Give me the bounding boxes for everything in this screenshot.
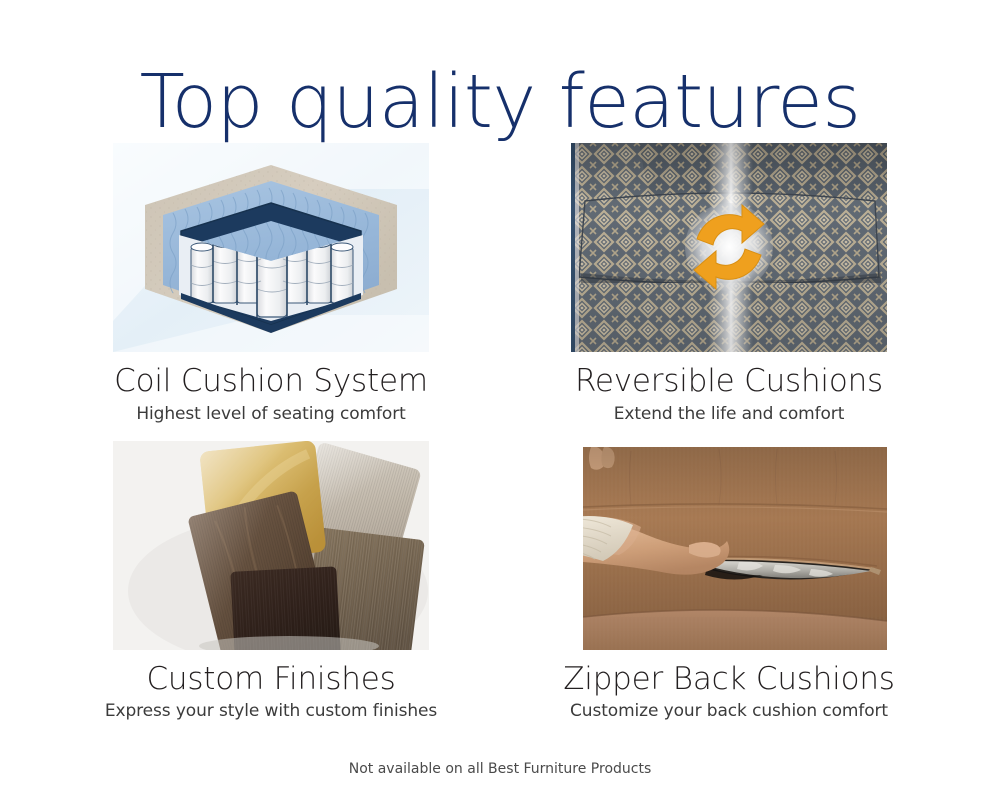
feature-title: Reversible Cushions — [575, 364, 883, 399]
feature-title: Coil Cushion System — [114, 364, 428, 399]
zipper-back-cushion-photo — [571, 441, 887, 650]
feature-row-bottom: Custom Finishes Express your style with … — [0, 441, 1000, 722]
coil-cushion-svg — [113, 143, 429, 352]
page-title: Top quality features — [0, 64, 1000, 142]
feature-grid: Coil Cushion System Highest level of sea… — [0, 143, 1000, 721]
feature-card-reversible-cushions[interactable]: Reversible Cushions Extend the life and … — [571, 143, 887, 424]
feature-card-coil-cushion-system[interactable]: Coil Cushion System Highest level of sea… — [113, 143, 429, 424]
feature-title: Custom Finishes — [146, 662, 395, 697]
reversible-cushion-photo — [571, 143, 887, 352]
feature-subtitle: Highest level of seating comfort — [136, 404, 405, 424]
feature-card-custom-finishes[interactable]: Custom Finishes Express your style with … — [113, 441, 429, 722]
feature-row-top: Coil Cushion System Highest level of sea… — [0, 143, 1000, 424]
coil-cushion-cutaway-illustration — [113, 143, 429, 352]
wood-finish-swatches-photo — [113, 441, 429, 650]
feature-title: Zipper Back Cushions — [563, 662, 895, 697]
feature-subtitle: Extend the life and comfort — [614, 404, 845, 424]
feature-subtitle: Customize your back cushion comfort — [570, 701, 888, 721]
feature-subtitle: Express your style with custom finishes — [105, 701, 437, 721]
feature-card-zipper-back-cushions[interactable]: Zipper Back Cushions Customize your back… — [571, 441, 887, 722]
feature-highlights-page: Top quality features — [0, 0, 1000, 800]
footnote-disclaimer: Not available on all Best Furniture Prod… — [0, 761, 1000, 777]
wood-swatches-svg — [113, 441, 429, 650]
reversible-cushion-svg — [571, 143, 887, 352]
zipper-cushion-svg — [571, 441, 887, 650]
